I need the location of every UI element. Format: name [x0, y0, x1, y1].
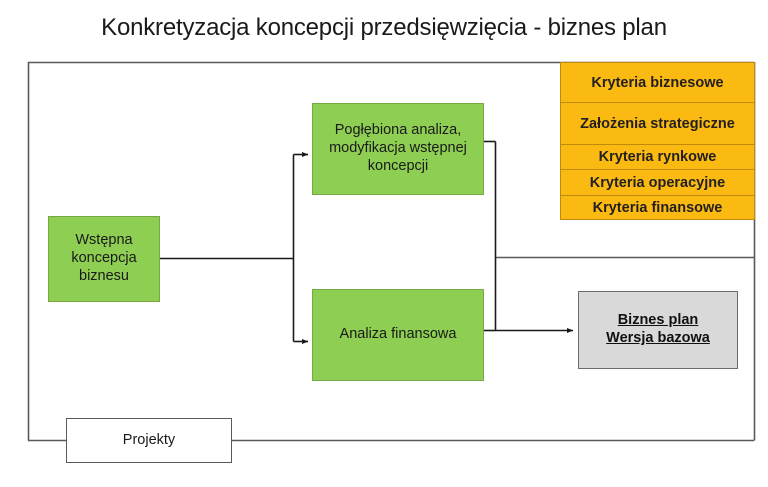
box-business-plan-line2: Wersja bazowa: [606, 330, 710, 348]
criteria-item-financial-label: Kryteria finansowe: [593, 200, 723, 216]
box-deep-analysis-label: Pogłębiona analiza, modyfikacja wstępnej…: [319, 122, 477, 175]
box-projects[interactable]: Projekty: [66, 418, 232, 463]
box-financial-analysis-label: Analiza finansowa: [340, 326, 457, 344]
criteria-item-financial[interactable]: Kryteria finansowe: [560, 195, 755, 220]
criteria-item-operational-label: Kryteria operacyjne: [590, 175, 725, 191]
criteria-item-strategic-label: Założenia strategiczne: [580, 116, 735, 132]
box-business-plan-line1: Biznes plan: [618, 312, 699, 330]
box-projects-label: Projekty: [123, 432, 175, 450]
diagram-canvas: Konkretyzacja koncepcji przedsięwzięcia …: [0, 0, 768, 487]
criteria-item-market-label: Kryteria rynkowe: [599, 149, 717, 165]
box-financial-analysis[interactable]: Analiza finansowa: [312, 289, 484, 381]
box-business-plan[interactable]: Biznes plan Wersja bazowa: [578, 291, 738, 369]
criteria-stack: Kryteria biznesowe Założenia strategiczn…: [560, 62, 755, 220]
box-deep-analysis[interactable]: Pogłębiona analiza, modyfikacja wstępnej…: [312, 103, 484, 195]
criteria-item-business-label: Kryteria biznesowe: [591, 75, 723, 91]
criteria-item-market[interactable]: Kryteria rynkowe: [560, 144, 755, 169]
criteria-item-strategic[interactable]: Założenia strategiczne: [560, 102, 755, 144]
box-initial-concept[interactable]: Wstępna koncepcja biznesu: [48, 216, 160, 302]
criteria-item-operational[interactable]: Kryteria operacyjne: [560, 169, 755, 195]
box-initial-concept-label: Wstępna koncepcja biznesu: [55, 232, 153, 285]
criteria-item-business[interactable]: Kryteria biznesowe: [560, 62, 755, 102]
